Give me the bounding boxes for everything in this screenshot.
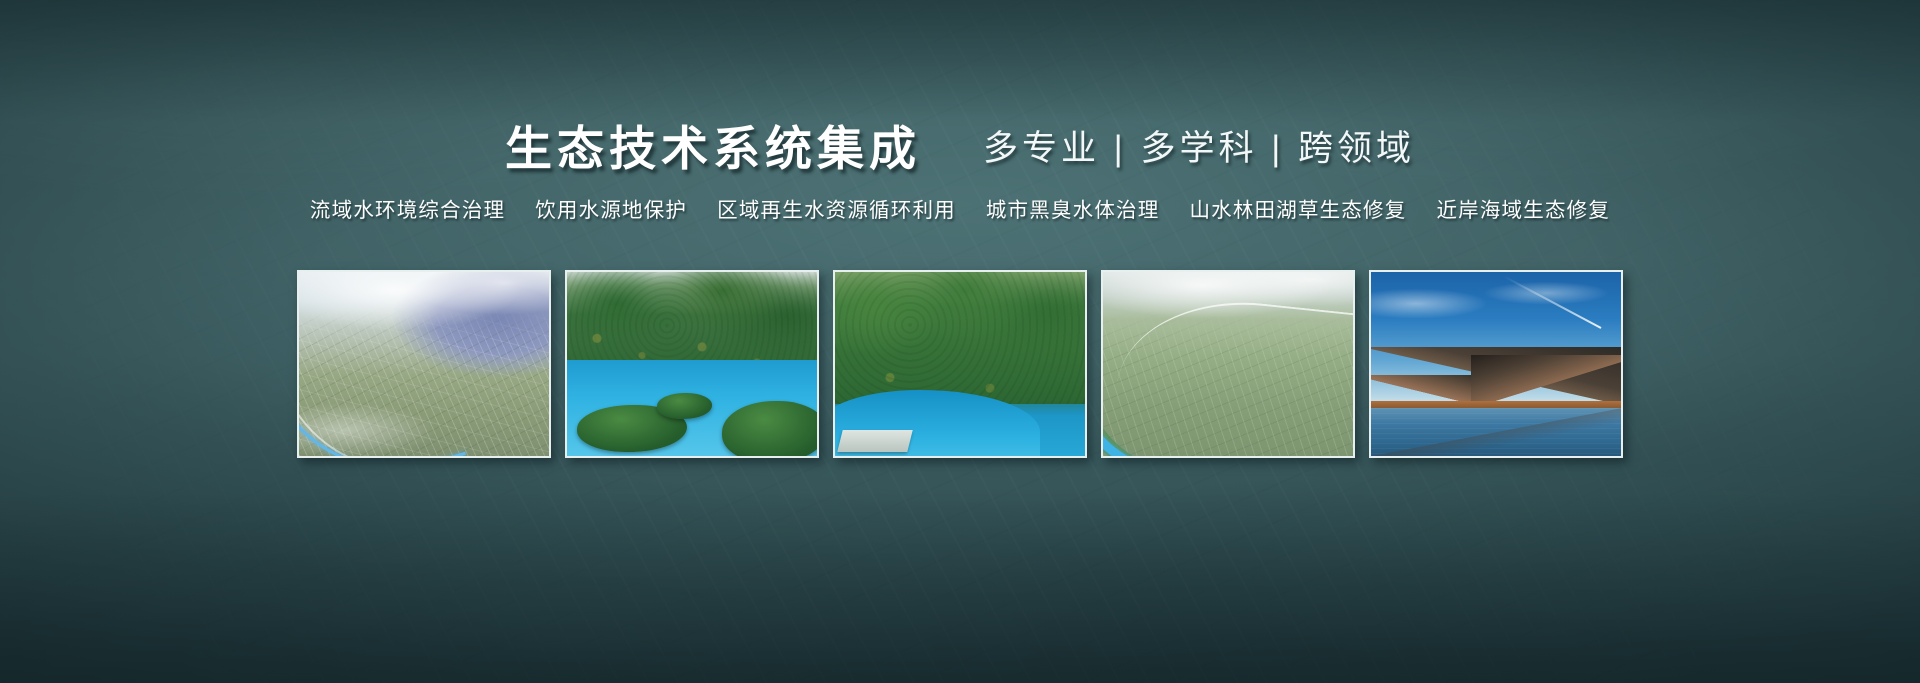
headline-row: 生态技术系统集成 多专业 | 多学科 | 跨领域 [0, 112, 1920, 184]
thumbnail-river-corridor[interactable] [1101, 270, 1355, 458]
page-subtitle: 多专业 | 多学科 | 跨领域 [983, 131, 1415, 166]
thumb-peak-left [1369, 375, 1476, 403]
thumbnail-strip [0, 270, 1920, 460]
tagline-item-5: 山水林田湖草生态修复 [1189, 193, 1406, 223]
thumb-peak-right [1471, 355, 1623, 403]
thumb-building [837, 430, 913, 452]
thumbnail-hills-cove[interactable] [833, 270, 1087, 458]
thumb-island-2 [722, 401, 819, 458]
tagline-item-6: 近岸海域生态修复 [1436, 193, 1610, 223]
tagline-item-4: 城市黑臭水体治理 [986, 193, 1160, 223]
tagline-row: 流域水环境综合治理 饮用水源地保护 区域再生水资源循环利用 城市黑臭水体治理 山… [0, 190, 1920, 226]
thumb-haze [1103, 272, 1353, 346]
thumb-wooded-hills [835, 272, 1085, 404]
thumb-shoreline [1371, 401, 1621, 408]
thumb-lake-water [1371, 408, 1621, 456]
tagline-item-1: 流域水环境综合治理 [310, 193, 505, 223]
tagline-item-3: 区域再生水资源循环利用 [717, 193, 956, 223]
hero-banner: 生态技术系统集成 多专业 | 多学科 | 跨领域 流域水环境综合治理 饮用水源地… [0, 0, 1920, 683]
thumbnail-mountain-lake[interactable] [1369, 270, 1623, 458]
thumbnail-reservoir-forest[interactable] [565, 270, 819, 458]
thumbnail-watershed-aerial[interactable] [297, 270, 551, 458]
tagline-item-2: 饮用水源地保护 [535, 193, 687, 223]
page-title: 生态技术系统集成 [505, 125, 921, 172]
